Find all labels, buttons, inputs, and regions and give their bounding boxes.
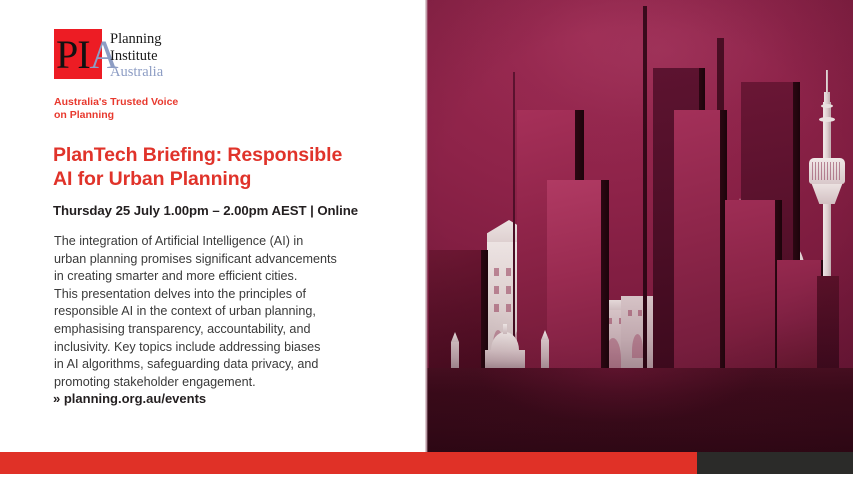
slab-pink-right-a — [674, 110, 720, 368]
logo-monogram-pi: PI — [56, 32, 90, 77]
pale-minaret-right — [541, 340, 549, 368]
event-headline-line1: PlanTech Briefing: Responsible — [53, 143, 393, 167]
slab-pink-right-b — [725, 200, 775, 368]
slab-tower-right-tall — [643, 6, 647, 368]
event-headline-line2: AI for Urban Planning — [53, 167, 393, 191]
slab-pink-tall — [513, 72, 515, 368]
pale-building-right — [621, 296, 655, 368]
pale-minaret-left — [451, 342, 459, 368]
comms-tower-upper-mast — [824, 92, 830, 158]
event-description: The integration of Artificial Intelligen… — [54, 233, 384, 391]
hero-image — [425, 0, 853, 452]
event-headline: PlanTech Briefing: Responsible AI for Ur… — [53, 143, 393, 191]
footer-bar-dark — [697, 452, 853, 474]
tower-base-slab — [817, 276, 839, 368]
logo-wordmark: Planning Institute Australia — [110, 31, 163, 81]
description-line: The integration of Artificial Intelligen… — [54, 233, 384, 251]
logo-word-institute: Institute — [110, 48, 163, 65]
slab-tower-left-mid — [547, 180, 601, 368]
comms-tower-ring-b — [821, 104, 833, 108]
events-link[interactable]: » planning.org.au/events — [53, 390, 206, 407]
description-line: emphasising transparency, accountability… — [54, 321, 384, 339]
comms-tower-ring-a — [819, 117, 835, 122]
footer-bar-red — [0, 452, 697, 474]
comms-tower-antenna — [826, 70, 828, 94]
logo-word-australia: Australia — [110, 64, 163, 81]
description-line: responsible AI in the context of urban p… — [54, 303, 384, 321]
description-line: promoting stakeholder engagement. — [54, 374, 384, 392]
description-line: urban planning promises significant adva… — [54, 251, 384, 269]
pia-logo[interactable]: PIA Planning Institute Australia — [54, 29, 254, 85]
slab-pink-right-c — [777, 260, 821, 368]
comms-tower-pod — [809, 158, 845, 184]
event-details: Thursday 25 July 1.00pm – 2.00pm AEST | … — [53, 202, 403, 220]
description-line: in AI algorithms, safeguarding data priv… — [54, 356, 384, 374]
comms-tower-pod-grill — [812, 162, 842, 180]
pale-small-dome-finial — [503, 324, 507, 334]
pale-small-dome-base — [485, 350, 525, 368]
logo-word-planning: Planning — [110, 31, 163, 48]
description-line: in creating smarter and more efficient c… — [54, 268, 384, 286]
footer-whitespace — [0, 474, 853, 480]
description-line: This presentation delves into the princi… — [54, 286, 384, 304]
content-panel: PIA Planning Institute Australia Austral… — [0, 0, 425, 452]
description-line: inclusivity. Key topics include addressi… — [54, 339, 384, 357]
footer-bar — [0, 452, 853, 474]
hero-ground-reflection — [425, 368, 853, 452]
brand-tagline-line1: Australia's Trusted Voice — [54, 96, 284, 109]
hero-left-edge-highlight — [425, 0, 428, 452]
brand-tagline: Australia's Trusted Voice on Planning — [54, 96, 284, 122]
brand-tagline-line2: on Planning — [54, 109, 284, 122]
event-poster: PIA Planning Institute Australia Austral… — [0, 0, 853, 480]
